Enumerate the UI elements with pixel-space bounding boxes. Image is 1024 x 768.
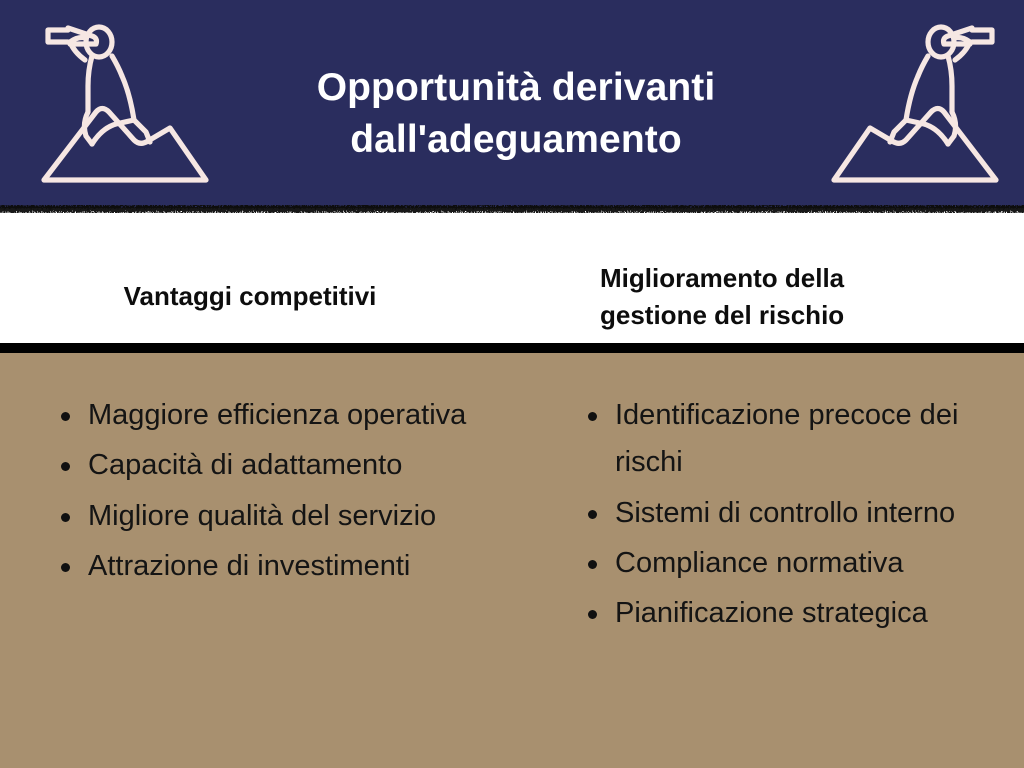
torn-paper-edge-divider <box>0 202 1024 222</box>
explorer-telescope-mountain-icon <box>30 8 222 200</box>
list-item: Pianificazione strategica <box>575 590 1024 637</box>
list-item: Capacità di adattamento <box>48 442 528 489</box>
list-item: Identificazione precoce dei rischi <box>575 392 1024 487</box>
slide-canvas: Opportunità derivanti dall'adeguamento V… <box>0 0 1024 768</box>
bullet-list-miglioramento-gestione-rischio: Identificazione precoce dei rischi Siste… <box>575 392 1024 640</box>
page-title: Opportunità derivanti dall'adeguamento <box>236 62 796 167</box>
column-heading-miglioramento-gestione-rischio: Miglioramento della gestione del rischio <box>600 260 1000 334</box>
list-item: Migliore qualità del servizio <box>48 493 528 540</box>
section-divider-rule <box>0 343 1024 353</box>
list-item: Maggiore efficienza operativa <box>48 392 528 439</box>
list-item: Compliance normativa <box>575 540 1024 587</box>
list-item: Attrazione di investimenti <box>48 543 528 590</box>
column-heading-vantaggi-competitivi: Vantaggi competitivi <box>40 278 460 315</box>
explorer-telescope-mountain-icon <box>818 8 1010 200</box>
list-item: Sistemi di controllo interno <box>575 490 1024 537</box>
bullet-list-vantaggi-competitivi: Maggiore efficienza operativa Capacità d… <box>48 392 528 593</box>
